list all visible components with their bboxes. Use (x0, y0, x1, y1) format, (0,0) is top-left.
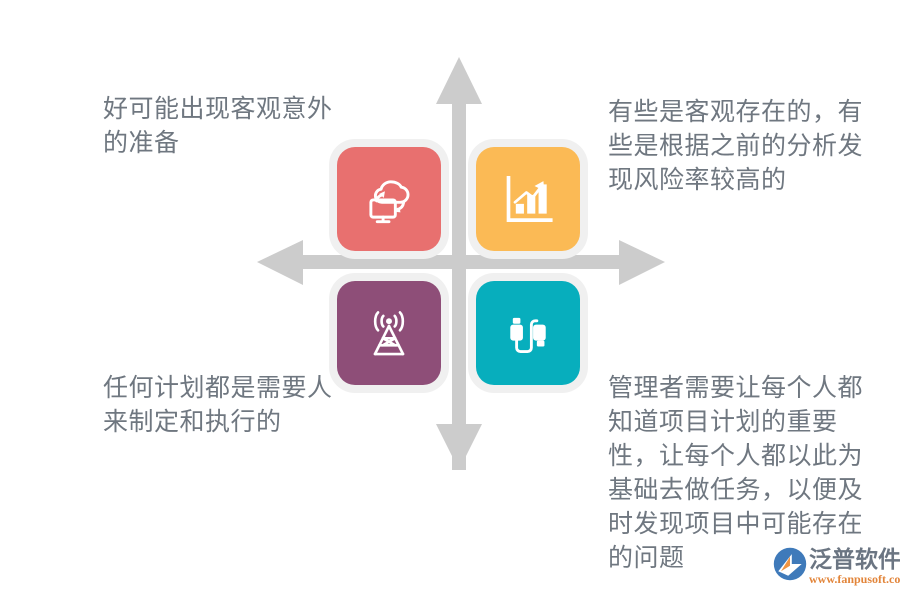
tile-growth-chart[interactable] (476, 147, 580, 251)
watermark-url: www.fanpusoft.com (809, 572, 900, 586)
usb-cable-icon (501, 306, 555, 360)
caption-top-left: 好可能出现客观意外的准备 (103, 92, 353, 160)
radio-tower-icon (361, 305, 417, 361)
vertical-axis-arrow (436, 57, 482, 470)
fanpu-logo-icon (772, 546, 808, 587)
cloud-sync-monitor-icon (360, 170, 418, 228)
caption-bottom-left: 任何计划都是需要人来制定和执行的 (103, 371, 353, 439)
tile-cloud-sync[interactable] (337, 147, 441, 251)
caption-top-right: 有些是客观存在的，有些是根据之前的分析发现风险率较高的 (608, 95, 863, 197)
tile-broadcast-tower[interactable] (337, 281, 441, 385)
tile-usb-cable[interactable] (476, 281, 580, 385)
diagram-canvas: 好可能出现客观意外的准备 有些是客观存在的，有些是根据之前的分析发现风险率较高的… (0, 0, 900, 600)
bar-chart-growth-icon (502, 173, 554, 225)
watermark: 泛普软件 www.fanpusoft.com (772, 540, 896, 592)
watermark-brand: 泛普软件 (809, 547, 900, 572)
horizontal-axis-arrow (257, 240, 665, 285)
